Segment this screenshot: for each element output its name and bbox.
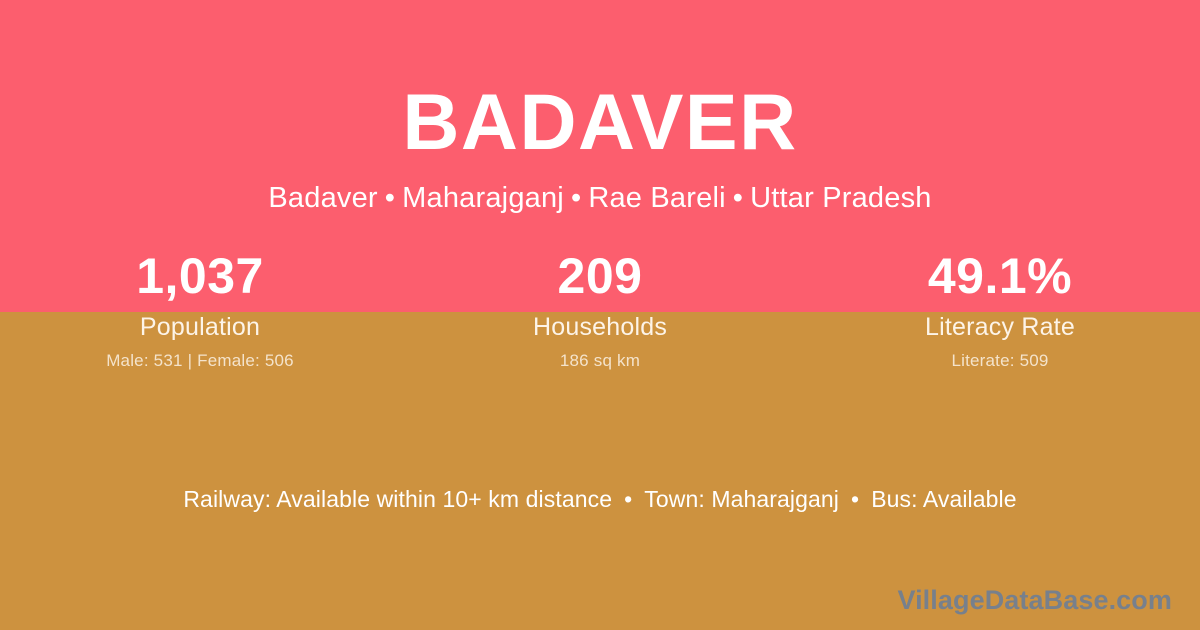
- stat-literacy-rate: 49.1% Literacy Rate Literate: 509: [800, 246, 1200, 371]
- breadcrumb-district: Rae Bareli: [588, 182, 725, 214]
- facility-separator-2: •: [839, 484, 871, 514]
- stat-households-label: Households: [400, 313, 800, 341]
- stat-households-area: 186 sq km: [400, 351, 800, 371]
- breadcrumb-separator-3: •: [726, 182, 750, 215]
- facility-town: Town: Maharajganj: [644, 486, 839, 512]
- facility-bus: Bus: Available: [871, 486, 1016, 512]
- village-info-card: BADAVER Badaver•Maharajganj•Rae Bareli•U…: [0, 0, 1200, 630]
- stat-households-value: 209: [400, 246, 800, 306]
- breadcrumb-separator-1: •: [378, 182, 402, 215]
- statistics-row: 1,037 Population Male: 531 | Female: 506…: [0, 246, 1200, 371]
- breadcrumb-separator-2: •: [564, 182, 588, 215]
- stat-population: 1,037 Population Male: 531 | Female: 506: [0, 246, 400, 371]
- facilities-summary: Railway: Available within 10+ km distanc…: [0, 484, 1200, 514]
- stat-population-breakdown: Male: 531 | Female: 506: [0, 351, 400, 371]
- stat-literacy-rate-value: 49.1%: [800, 246, 1200, 306]
- site-brand-watermark: VillageDataBase.com: [897, 584, 1172, 616]
- breadcrumb: Badaver•Maharajganj•Rae Bareli•Uttar Pra…: [0, 182, 1200, 215]
- stat-households: 209 Households 186 sq km: [400, 246, 800, 371]
- stat-population-value: 1,037: [0, 246, 400, 306]
- stat-literacy-literate-count: Literate: 509: [800, 351, 1200, 371]
- breadcrumb-block: Maharajganj: [402, 182, 564, 214]
- stat-literacy-rate-label: Literacy Rate: [800, 313, 1200, 341]
- page-title: BADAVER: [0, 82, 1200, 161]
- breadcrumb-state: Uttar Pradesh: [750, 182, 932, 214]
- stat-population-label: Population: [0, 313, 400, 341]
- facility-separator-1: •: [612, 484, 644, 514]
- breadcrumb-village: Badaver: [268, 182, 377, 214]
- facility-railway: Railway: Available within 10+ km distanc…: [183, 486, 612, 512]
